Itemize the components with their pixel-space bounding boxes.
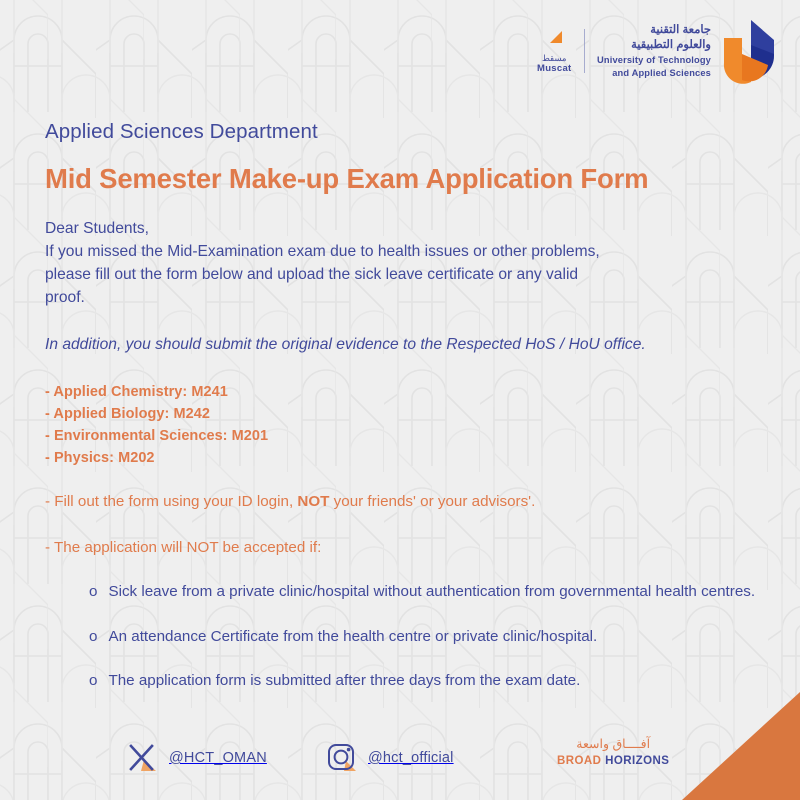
intro-line: Dear Students, — [45, 218, 761, 241]
logo-divider — [584, 29, 586, 73]
social-link-x[interactable]: @HCT_OMAN — [126, 741, 267, 775]
social-link-instagram[interactable]: @hct_official — [325, 741, 454, 775]
rule-login-prefix: - Fill out the form using your ID login, — [45, 493, 297, 510]
instagram-icon — [325, 741, 359, 775]
university-arabic-line-2: والعلوم التطبيقية — [597, 38, 711, 53]
brand-word-broad: BROAD — [557, 755, 601, 767]
brand-word-horizons: HORIZONS — [605, 755, 669, 767]
utas-u-mark-icon — [720, 18, 778, 84]
rule-login-emphasis: NOT — [297, 493, 329, 510]
university-english-line-2: and Applied Sciences — [597, 67, 711, 79]
bullet-marker: o — [89, 628, 108, 645]
course-code-list: - Applied Chemistry: M241 - Applied Biol… — [45, 381, 761, 469]
university-logo-lockup: مسقط Muscat جامعة التقنية والعلوم التطبي… — [537, 18, 778, 84]
muscat-label-arabic: مسقط — [542, 53, 567, 63]
bullet-marker: o — [89, 583, 108, 600]
intro-line: proof. — [45, 287, 761, 310]
rejection-reason-1: oSick leave from a private clinic/hospit… — [45, 581, 761, 603]
department-heading: Applied Sciences Department — [45, 120, 761, 144]
evidence-note: In addition, you should submit the origi… — [45, 334, 745, 357]
rejection-reason-text: An attendance Certificate from the healt… — [108, 628, 597, 645]
x-twitter-icon — [126, 741, 160, 775]
rejection-reason-2: oAn attendance Certificate from the heal… — [45, 626, 761, 648]
poster-page: مسقط Muscat جامعة التقنية والعلوم التطبي… — [0, 0, 800, 800]
university-arabic-line-1: جامعة التقنية — [597, 23, 711, 38]
brand-tagline-english: BROAD HORIZONS — [557, 755, 669, 767]
university-name-block: جامعة التقنية والعلوم التطبيقية Universi… — [585, 23, 720, 80]
muscat-flag-icon — [541, 28, 567, 50]
x-handle: @HCT_OMAN — [169, 750, 267, 766]
rule-id-login: - Fill out the form using your ID login,… — [45, 491, 761, 514]
footer-bar: @HCT_OMAN @hct_official آفــــاق واسعة B… — [0, 732, 800, 792]
intro-line: please fill out the form below and uploa… — [45, 264, 761, 287]
list-item: - Applied Chemistry: M241 — [45, 381, 761, 403]
page-title: Mid Semester Make-up Exam Application Fo… — [45, 163, 761, 195]
intro-paragraph: Dear Students, If you missed the Mid-Exa… — [45, 218, 761, 310]
list-item: - Physics: M202 — [45, 447, 761, 469]
rejection-reason-3: oThe application form is submitted after… — [45, 670, 761, 692]
instagram-handle: @hct_official — [368, 750, 454, 766]
brand-tagline-arabic: آفــــاق واسعة — [557, 738, 669, 752]
rejection-reason-text: The application form is submitted after … — [108, 672, 580, 689]
rejection-reason-text: Sick leave from a private clinic/hospita… — [108, 583, 755, 600]
muscat-campus-logo: مسقط Muscat — [537, 28, 584, 74]
document-content: Applied Sciences Department Mid Semester… — [45, 120, 761, 692]
rule-login-suffix: your friends' or your advisors'. — [329, 493, 535, 510]
bullet-marker: o — [89, 672, 108, 689]
broad-horizons-logo: آفــــاق واسعة BROAD HORIZONS — [557, 738, 669, 767]
list-item: - Applied Biology: M242 — [45, 403, 761, 425]
intro-line: If you missed the Mid-Examination exam d… — [45, 241, 761, 264]
rejection-heading: - The application will NOT be accepted i… — [45, 537, 761, 560]
university-english-line-1: University of Technology — [597, 54, 711, 66]
muscat-label-english: Muscat — [537, 63, 572, 74]
list-item: - Environmental Sciences: M201 — [45, 425, 761, 447]
